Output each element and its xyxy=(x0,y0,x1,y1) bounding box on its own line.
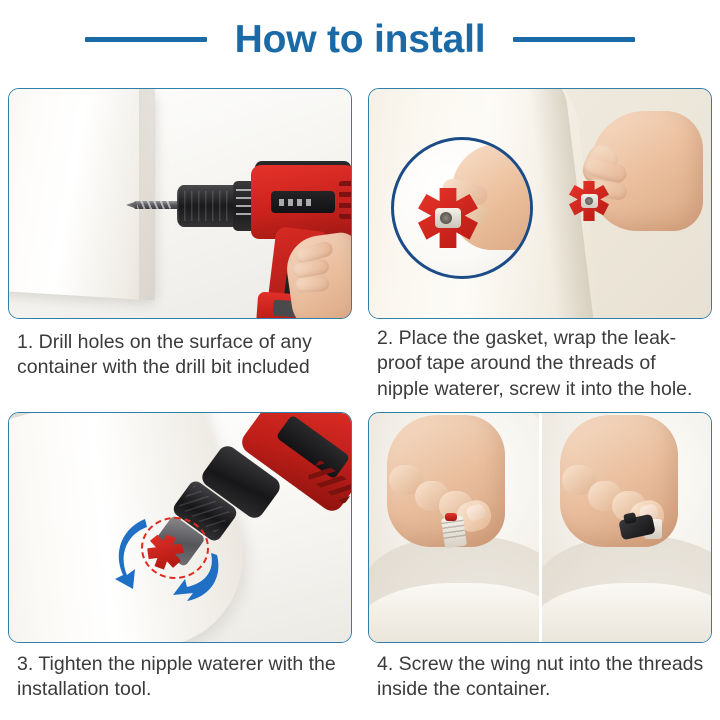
finger xyxy=(295,276,330,293)
step-1-image-panel xyxy=(8,88,352,319)
drill-chuck xyxy=(177,185,239,227)
drill-bit-flutes xyxy=(137,201,171,209)
step-1-scene xyxy=(9,89,351,318)
step-2-image-panel xyxy=(368,88,712,319)
step-4-scene xyxy=(369,413,711,642)
header: How to install xyxy=(0,0,720,78)
step-3-caption: 3. Tighten the nipple waterer with the i… xyxy=(17,652,347,703)
step-1-caption: 1. Drill holes on the surface of any con… xyxy=(17,330,347,381)
step-4-caption: 4. Screw the wing nut into the threads i… xyxy=(377,652,713,703)
container-rim xyxy=(542,583,711,642)
step-3-scene xyxy=(9,413,351,642)
container-rim xyxy=(369,583,540,642)
drill-display-panel xyxy=(271,191,335,213)
step-3-image-panel xyxy=(8,412,352,643)
step-4-right-photo xyxy=(542,413,711,642)
page-title: How to install xyxy=(235,20,486,59)
nipple-threaded-hub xyxy=(435,208,461,228)
nipple-red-cap xyxy=(445,513,457,521)
infographic-root: How to install 1. Drill holes on the sur… xyxy=(0,0,720,720)
step-4-left-photo xyxy=(369,413,540,642)
rotation-arrows-icon xyxy=(105,509,235,609)
magnifier-inset xyxy=(391,137,533,279)
white-container xyxy=(9,89,154,300)
step-4-image-panel xyxy=(368,412,712,643)
title-rule-right-icon xyxy=(513,37,635,42)
step-2-scene xyxy=(369,89,711,318)
drill-vents xyxy=(339,181,351,219)
title-rule-left-icon xyxy=(85,37,207,42)
step-2-caption: 2. Place the gasket, wrap the leak-proof… xyxy=(377,326,713,402)
red-nipple-waterer-zoomed xyxy=(418,188,478,248)
red-nipple-waterer xyxy=(569,181,609,221)
nipple-threaded-hub xyxy=(581,194,598,208)
